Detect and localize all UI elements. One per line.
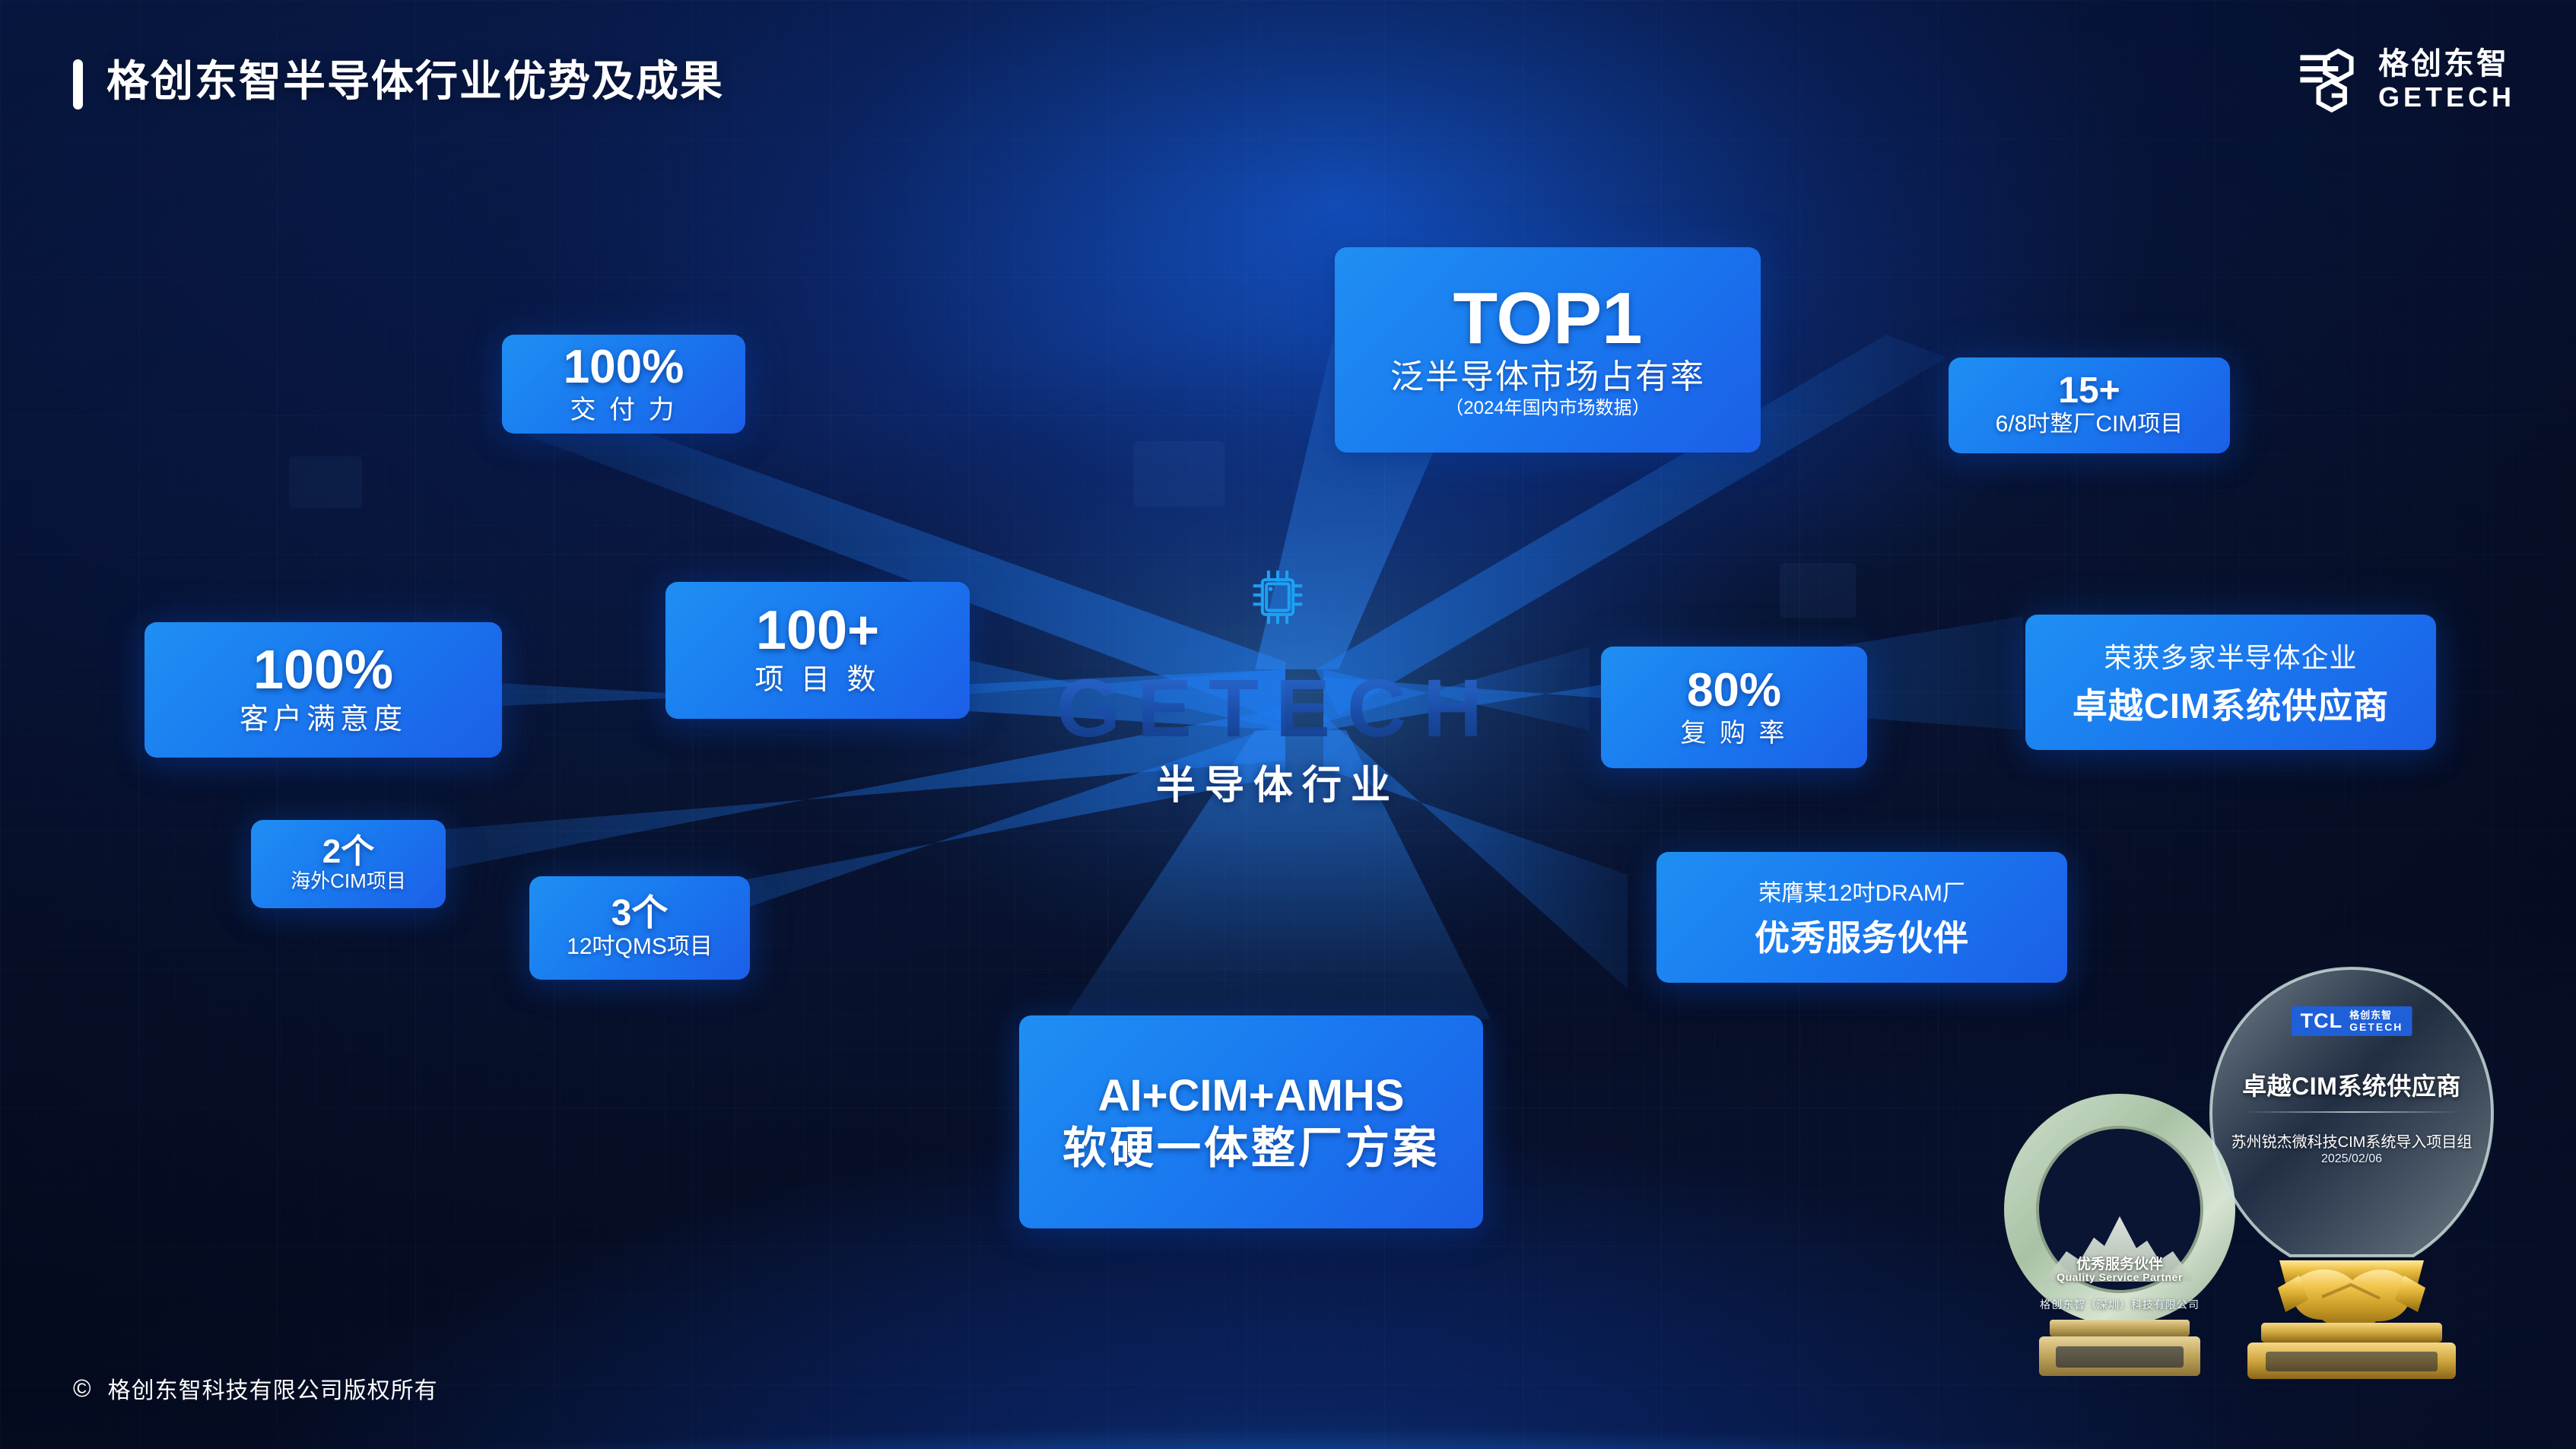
- card-repurchase-label: 复 购 率: [1681, 719, 1788, 748]
- decor-block-3: [289, 456, 362, 508]
- chip-icon: [1245, 563, 1310, 631]
- title-accent-bar: [73, 59, 83, 110]
- card-qms-project-label: 12吋QMS项目: [567, 934, 713, 961]
- card-fab-cim-value: 15+: [2058, 373, 2120, 410]
- tcl-brand-text: TCL: [2301, 1011, 2343, 1031]
- card-delivery-label: 交 付 力: [570, 396, 678, 425]
- badge-getech-en: GETECH: [2349, 1022, 2403, 1032]
- getech-hexagon-logo-icon: [2298, 47, 2363, 113]
- brand-logo: 格创东智 GETECH: [2298, 47, 2515, 113]
- card-fab-cim-label: 6/8吋整厂CIM项目: [1996, 412, 2184, 438]
- card-fab-cim[interactable]: 15+ 6/8吋整厂CIM项目: [1949, 357, 2230, 453]
- card-service-partner-top: 荣膺某12吋DRAM厂: [1758, 874, 1965, 907]
- card-delivery[interactable]: 100% 交 付 力: [502, 335, 745, 434]
- card-satisfaction[interactable]: 100% 客户满意度: [145, 622, 502, 758]
- crystal-award-title: 卓越CIM系统供应商: [2188, 1067, 2515, 1102]
- slide-canvas: 格创东智半导体行业优势及成果 格创东智 GETECH GETEC: [0, 0, 2576, 1449]
- card-qms-project-value: 3个: [611, 895, 669, 933]
- footer-copyright: © 格创东智科技有限公司版权所有: [73, 1371, 438, 1405]
- page-title: 格创东智半导体行业优势及成果: [106, 47, 724, 109]
- logo-text-cn: 格创东智: [2378, 49, 2515, 79]
- card-project-count-label: 项 目 数: [754, 664, 880, 697]
- card-overseas-cim-label: 海外CIM项目: [291, 870, 406, 893]
- center-hub: GETECH 半导体行业: [1012, 563, 1544, 814]
- card-cim-supplier[interactable]: 荣获多家半导体企业 卓越CIM系统供应商: [2025, 615, 2436, 750]
- card-total-solution[interactable]: AI+CIM+AMHS 软硬一体整厂方案: [1019, 1015, 1483, 1228]
- crystal-divider: [2243, 1111, 2460, 1113]
- card-overseas-cim[interactable]: 2个 海外CIM项目: [251, 820, 446, 908]
- card-project-count[interactable]: 100+ 项 目 数: [665, 582, 970, 719]
- card-total-solution-line1: AI+CIM+AMHS: [1098, 1073, 1405, 1118]
- card-repurchase[interactable]: 80% 复 购 率: [1601, 647, 1867, 768]
- card-satisfaction-value: 100%: [253, 643, 393, 698]
- card-total-solution-line2: 软硬一体整厂方案: [1062, 1126, 1440, 1171]
- crystal-award-subtitle: 苏州锐杰微科技CIM系统导入项目组: [2188, 1130, 2515, 1152]
- crystal-award-date: 2025/02/06: [2188, 1152, 2515, 1166]
- copyright-text: 格创东智科技有限公司版权所有: [108, 1371, 438, 1405]
- card-qms-project[interactable]: 3个 12吋QMS项目: [529, 876, 750, 980]
- card-cim-supplier-bold: 卓越CIM系统供应商: [2073, 678, 2389, 729]
- copyright-icon: ©: [73, 1376, 91, 1400]
- card-market-share-note: （2024年国内市场数据）: [1445, 399, 1650, 418]
- card-market-share-value: TOP1: [1453, 281, 1643, 356]
- badge-getech-cn: 格创东智: [2349, 1010, 2403, 1020]
- tcl-getech-badge: TCL 格创东智 GETECH: [2292, 1006, 2412, 1036]
- card-repurchase-value: 80%: [1687, 666, 1781, 714]
- slide-header: 格创东智半导体行业优势及成果 格创东智 GETECH: [0, 0, 2576, 141]
- card-service-partner[interactable]: 荣膺某12吋DRAM厂 优秀服务伙伴: [1656, 852, 2067, 983]
- industry-label: 半导体行业: [1012, 753, 1544, 810]
- card-delivery-value: 100%: [564, 343, 684, 391]
- award-crystal-trophy: TCL 格创东智 GETECH 卓越CIM系统供应商 苏州锐杰微科技CIM系统导…: [2188, 962, 2515, 1388]
- card-project-count-value: 100+: [756, 603, 879, 659]
- card-service-partner-bold: 优秀服务伙伴: [1755, 910, 1969, 961]
- decor-block-2: [1780, 563, 1856, 618]
- decor-block-1: [1133, 441, 1224, 507]
- card-overseas-cim-value: 2个: [322, 835, 374, 869]
- awards-group: 优秀服务伙伴 Quality Service Partner 格创东智（深圳）科…: [1983, 894, 2546, 1396]
- logo-text-en: GETECH: [2378, 84, 2515, 111]
- card-satisfaction-label: 客户满意度: [240, 704, 407, 737]
- card-market-share-label: 泛半导体市场占有率: [1390, 358, 1705, 397]
- card-market-share[interactable]: TOP1 泛半导体市场占有率 （2024年国内市场数据）: [1335, 247, 1761, 453]
- getech-watermark: GETECH: [1012, 660, 1544, 755]
- card-cim-supplier-top: 荣获多家半导体企业: [2104, 636, 2357, 675]
